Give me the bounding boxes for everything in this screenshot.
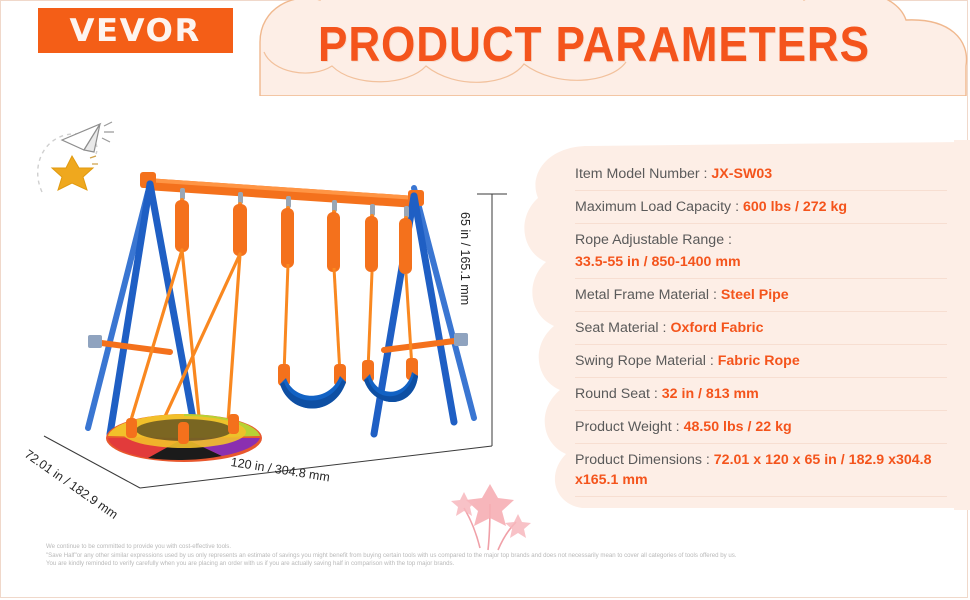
param-label: Round Seat :	[575, 386, 658, 402]
param-row: Swing Rope Material : Fabric Rope	[575, 345, 947, 378]
param-value: Steel Pipe	[721, 287, 789, 303]
param-row: Product Dimensions : 72.01 x 120 x 65 in…	[575, 444, 947, 497]
param-row: Maximum Load Capacity : 600 lbs / 272 kg	[575, 191, 947, 224]
param-label: Swing Rope Material :	[575, 353, 714, 369]
vevor-logo: VEVOR	[38, 8, 233, 53]
param-row: Seat Material : Oxford Fabric	[575, 312, 947, 345]
param-row: Product Weight : 48.50 lbs / 22 kg	[575, 411, 947, 444]
param-row: Round Seat : 32 in / 813 mm	[575, 378, 947, 411]
saucer-swing	[106, 414, 262, 462]
footer-line-1: We continue to be committed to provide y…	[46, 543, 936, 552]
belt-seat-left	[278, 264, 346, 409]
param-value: Fabric Rope	[718, 353, 800, 369]
param-label: Metal Frame Material :	[575, 287, 717, 303]
param-row: Rope Adjustable Range : 33.5-55 in / 850…	[575, 224, 947, 279]
param-value: 600 lbs / 272 kg	[743, 199, 847, 215]
page-title: PRODUCT PARAMETERS	[318, 14, 822, 76]
param-label: Maximum Load Capacity :	[575, 199, 739, 215]
footer-line-3: You are kindly reminded to verify carefu…	[46, 560, 936, 569]
footer-line-2: "Save Half"or any other similar expressi…	[46, 552, 936, 561]
saucer-swing-ropes	[128, 250, 240, 436]
param-label: Seat Material :	[575, 320, 666, 336]
param-label: Product Weight :	[575, 419, 680, 435]
strap-adjusters	[175, 200, 412, 274]
param-value: 48.50 lbs / 22 kg	[684, 419, 792, 435]
footer-disclaimer: We continue to be committed to provide y…	[46, 543, 936, 569]
param-row: Metal Frame Material : Steel Pipe	[575, 279, 947, 312]
param-value: 32 in / 813 mm	[662, 386, 759, 402]
infographic-stage: VEVOR PRODUCT PARAMETERS Item Model Numb…	[0, 0, 970, 600]
param-value: 33.5-55 in / 850-1400 mm	[575, 252, 947, 272]
param-label: Rope Adjustable Range :	[575, 232, 732, 248]
star-icon	[52, 156, 93, 190]
param-label: Product Dimensions :	[575, 452, 710, 468]
param-label: Item Model Number :	[575, 166, 707, 182]
param-value: Oxford Fabric	[670, 320, 763, 336]
param-value: JX-SW03	[711, 166, 772, 182]
vevor-wordmark: VEVOR	[70, 13, 201, 49]
param-row: Item Model Number : JX-SW03	[575, 158, 947, 191]
paper-plane-icon	[34, 106, 142, 198]
dimension-height-label: 65 in / 165.1 mm	[458, 212, 472, 305]
parameters-list: Item Model Number : JX-SW03 Maximum Load…	[575, 158, 947, 497]
